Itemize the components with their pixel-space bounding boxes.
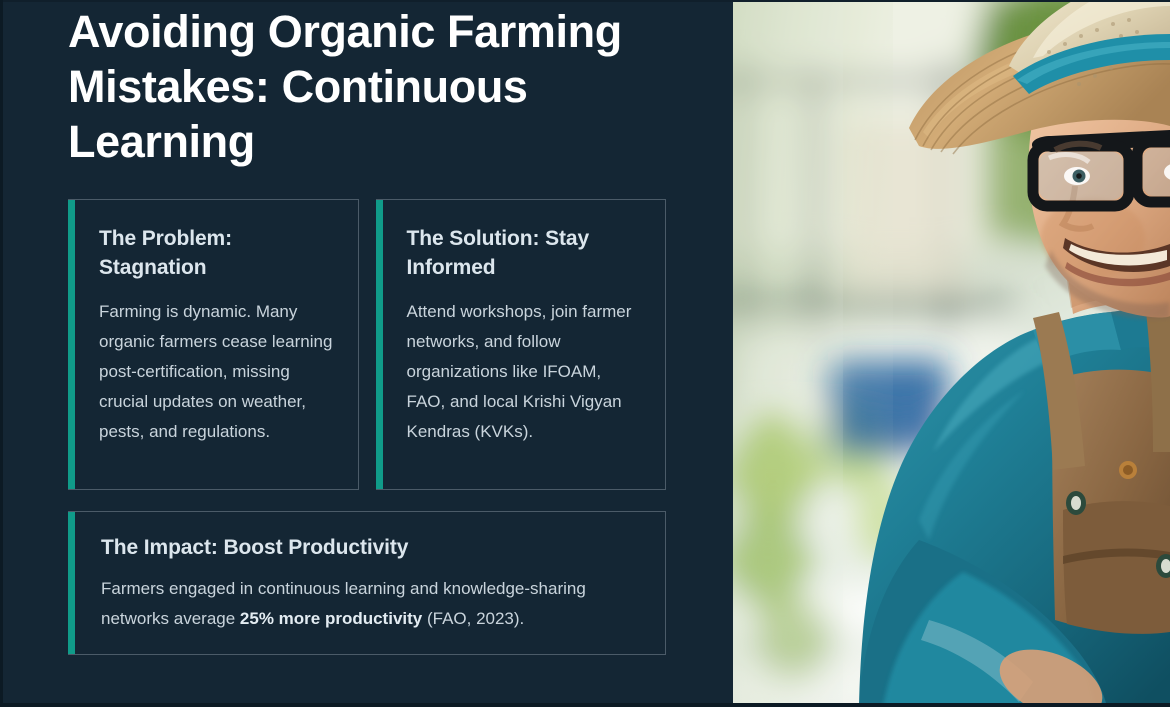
impact-text-after: (FAO, 2023). xyxy=(422,609,524,628)
slide-left-edge xyxy=(0,0,3,707)
slide-bottom-edge xyxy=(0,703,1170,707)
accent-bar xyxy=(68,512,75,654)
card-text: Farming is dynamic. Many organic farmers… xyxy=(99,297,336,447)
impact-heading: The Impact: Boost Productivity xyxy=(101,534,643,562)
slide-top-edge xyxy=(0,0,1170,2)
card-heading: The Problem: Stagnation xyxy=(99,224,336,282)
impact-text-highlight: 25% more productivity xyxy=(240,609,422,628)
content-column: Avoiding Organic Farming Mistakes: Conti… xyxy=(0,0,733,707)
cards-row: The Problem: Stagnation Farming is dynam… xyxy=(68,199,666,490)
impact-text: Farmers engaged in continuous learning a… xyxy=(101,574,643,634)
farmer-photo xyxy=(733,0,1170,707)
page-title: Avoiding Organic Farming Mistakes: Conti… xyxy=(68,4,688,169)
farmer-photo-illustration xyxy=(733,0,1170,707)
card-problem: The Problem: Stagnation Farming is dynam… xyxy=(68,199,359,490)
card-solution: The Solution: Stay Informed Attend works… xyxy=(376,199,667,490)
glasses xyxy=(1032,130,1170,206)
slide-root: Avoiding Organic Farming Mistakes: Conti… xyxy=(0,0,1170,707)
card-body: The Impact: Boost Productivity Farmers e… xyxy=(75,512,665,654)
card-heading: The Solution: Stay Informed xyxy=(407,224,644,282)
accent-bar xyxy=(376,200,383,489)
card-body: The Problem: Stagnation Farming is dynam… xyxy=(75,200,358,489)
card-body: The Solution: Stay Informed Attend works… xyxy=(383,200,666,489)
card-text: Attend workshops, join farmer networks, … xyxy=(407,297,644,447)
accent-bar xyxy=(68,200,75,489)
card-impact: The Impact: Boost Productivity Farmers e… xyxy=(68,511,666,655)
